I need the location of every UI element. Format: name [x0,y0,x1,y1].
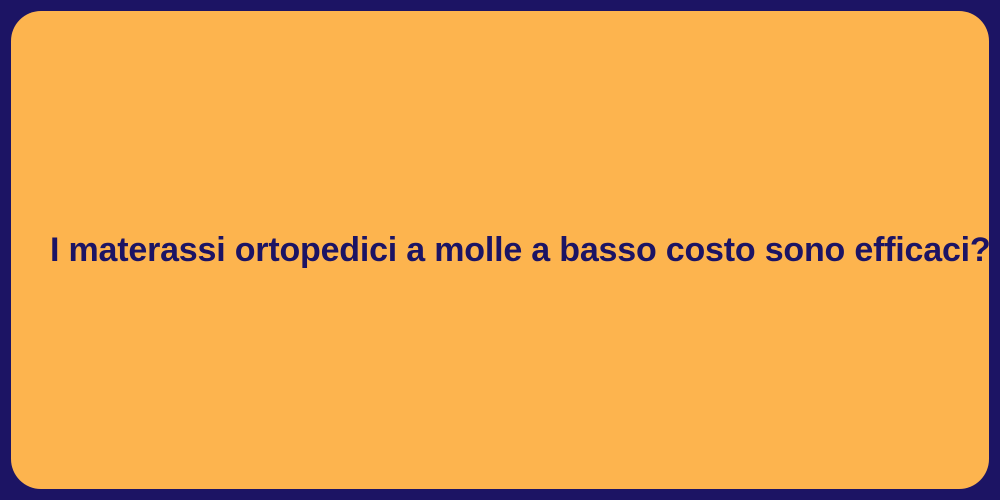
page-background: I materassi ortopedici a molle a basso c… [0,0,1000,500]
content-card: I materassi ortopedici a molle a basso c… [11,11,989,489]
page-title: I materassi ortopedici a molle a basso c… [11,229,989,272]
